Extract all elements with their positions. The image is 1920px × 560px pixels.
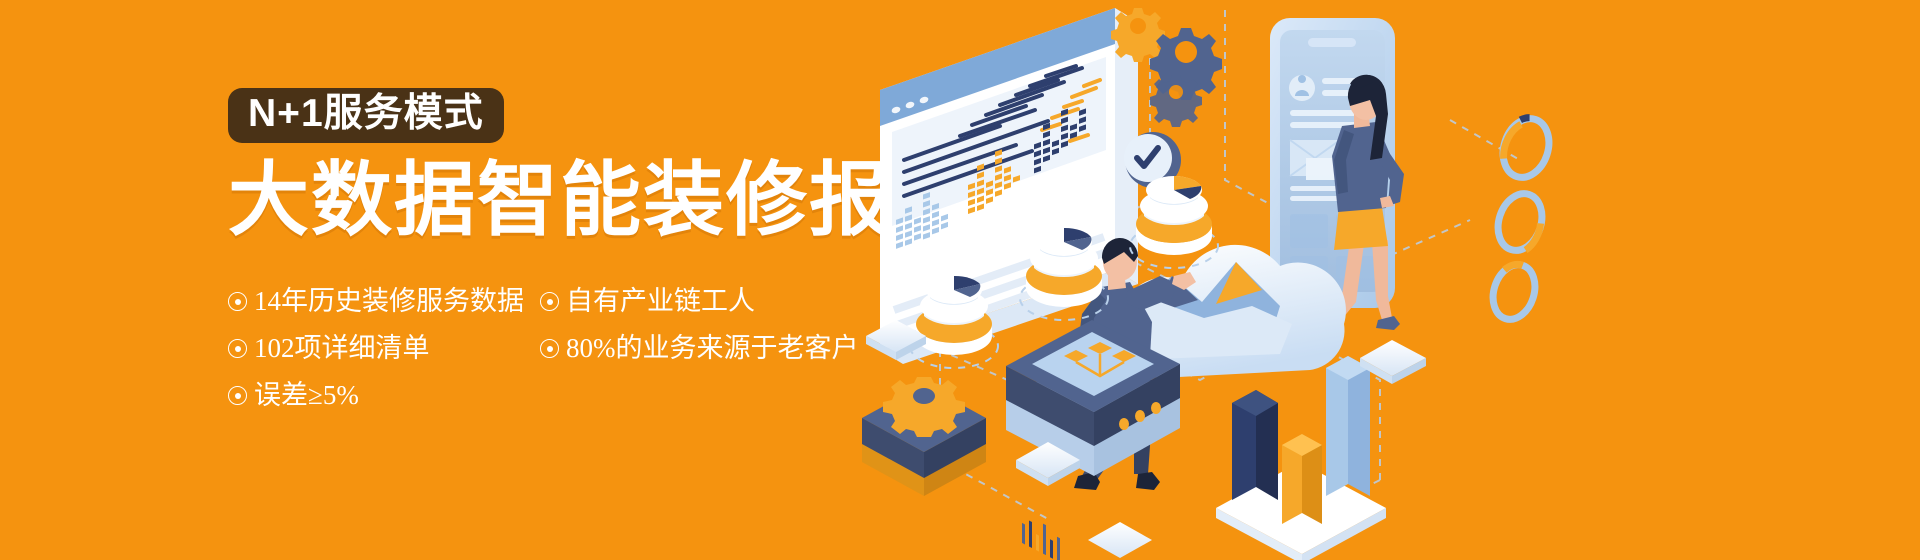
gear-icon-orange	[1111, 8, 1165, 62]
list-item: 14年历史装修服务数据	[228, 278, 528, 325]
list-item-label: 自有产业链工人	[566, 288, 755, 315]
server-front-chart	[1022, 520, 1060, 560]
list-item-label: 14年历史装修服务数据	[254, 288, 524, 315]
bullet-dot-icon	[540, 339, 559, 358]
bar-chart-3d	[1216, 356, 1386, 560]
bullet-dot-icon	[228, 386, 247, 405]
service-model-tag: N+1服务模式	[228, 88, 504, 143]
list-item-label: 80%的业务来源于老客户	[566, 335, 859, 362]
floating-tile-far-bottom	[1088, 522, 1152, 558]
big-data-isometric-illustration	[820, 0, 1920, 560]
list-item-label: 102项详细清单	[254, 335, 430, 362]
gear-icon-navy-small	[1150, 75, 1202, 127]
list-item-label: 误差≥5%	[254, 382, 359, 409]
bullet-dot-icon	[540, 292, 559, 311]
bullet-dot-icon	[228, 339, 247, 358]
gear-icon-on-plate	[883, 377, 965, 437]
promo-banner: N+1服务模式 大数据智能装修报价 14年历史装修服务数据 自有产业链工人 10…	[0, 0, 1920, 560]
bullet-dot-icon	[228, 292, 247, 311]
list-item: 102项详细清单	[228, 325, 528, 372]
donut-rings	[1486, 113, 1556, 325]
server-box	[1006, 320, 1180, 560]
gear-platform	[862, 377, 986, 496]
list-item: 误差≥5%	[228, 372, 528, 419]
